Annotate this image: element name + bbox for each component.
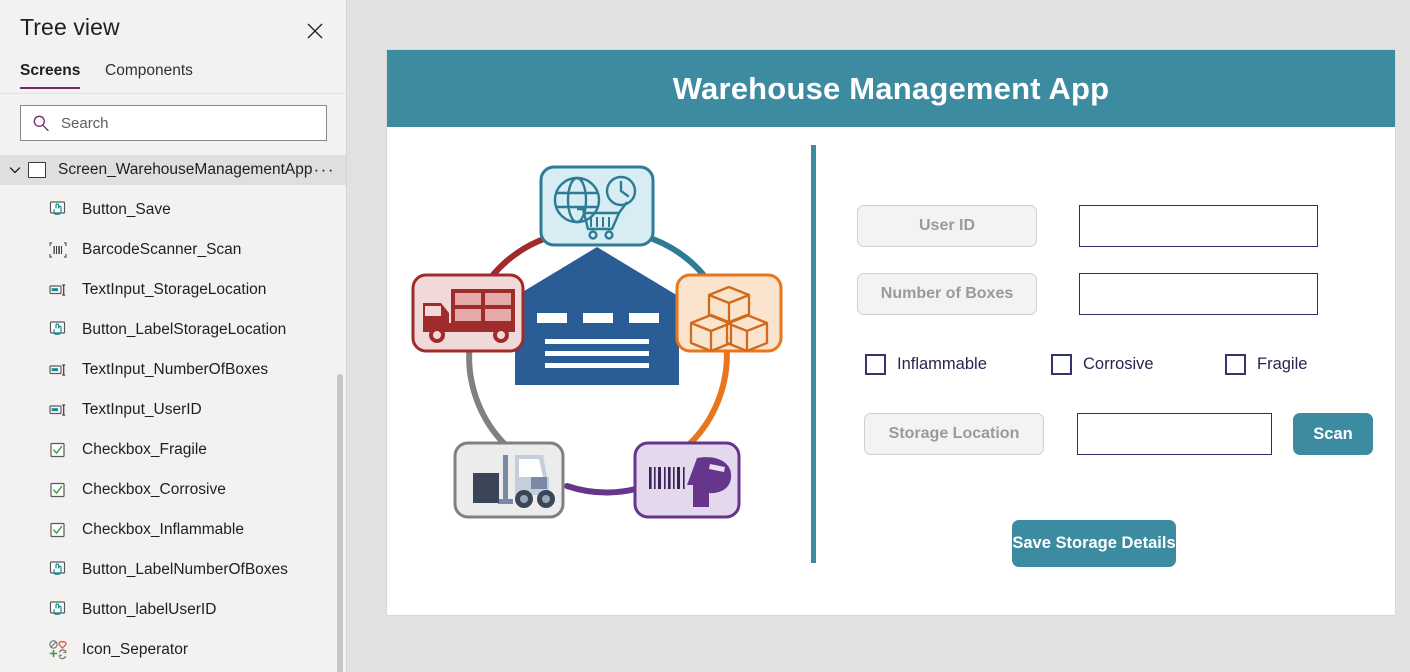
barcode-scanner-icon [48,239,70,261]
tree-item-label: Button_LabelNumberOfBoxes [82,561,288,579]
app-title: Warehouse Management App [673,71,1110,107]
tree-item-textinput-numberofboxes[interactable]: TextInput_NumberOfBoxes [0,350,347,390]
button-label-number-of-boxes[interactable]: Number of Boxes [857,273,1037,315]
tree-view-panel: Tree view Screens Components Search Scre… [0,0,347,672]
tree-item-textinput-userid[interactable]: TextInput_UserID [0,390,347,430]
tree-item-label: Button_LabelStorageLocation [82,321,286,339]
tree-item-label: Checkbox_Inflammable [82,521,244,539]
tree-item-label: Icon_Seperator [82,641,188,659]
search-placeholder: Search [61,115,109,132]
button-save[interactable]: Save Storage Details [1012,520,1176,567]
delivery-truck-icon [413,275,523,351]
tree-item-label: Checkbox_Fragile [82,441,207,459]
checkbox-icon [48,519,70,541]
tree-root-label: Screen_WarehouseManagementApp [58,161,312,179]
warehouse-icon [501,247,693,385]
button-icon [48,199,70,221]
checkbox-icon [48,439,70,461]
tree-item-label: Button_Save [82,201,171,219]
tree-view-tabs: Screens Components [0,62,347,94]
tree-item-button-labeluserid[interactable]: Button_labelUserID [0,590,347,630]
tree-item-checkbox-inflammable[interactable]: Checkbox_Inflammable [0,510,347,550]
tree-item-label: TextInput_UserID [82,401,202,419]
checkbox-icon [48,479,70,501]
tree-item-label: BarcodeScanner_Scan [82,241,241,259]
text-input-storage-location[interactable] [1077,413,1272,455]
tree-item-label: TextInput_StorageLocation [82,281,266,299]
tab-components[interactable]: Components [105,62,193,87]
button-icon [48,599,70,621]
checkbox-label: Fragile [1257,355,1307,374]
tree-item-label: Checkbox_Corrosive [82,481,226,499]
tree-item-textinput-storagelocation[interactable]: TextInput_StorageLocation [0,270,347,310]
tab-screens[interactable]: Screens [20,62,80,89]
checkbox-box-icon [865,354,886,375]
storage-form: User ID Number of Boxes Inflammable Corr… [857,198,1387,618]
button-icon [48,319,70,341]
tree-item-label: TextInput_NumberOfBoxes [82,361,268,379]
checkbox-box-icon [1051,354,1072,375]
warehouse-cycle-graphic [397,155,797,555]
tree-item-barcodescanner-scan[interactable]: BarcodeScanner_Scan [0,230,347,270]
barcode-scanner-scan-button[interactable]: Scan [1293,413,1373,455]
text-input-icon [48,359,70,381]
app-header-bar: Warehouse Management App [387,50,1395,127]
page-title: Tree view [20,14,120,41]
tree-item-checkbox-corrosive[interactable]: Checkbox_Corrosive [0,470,347,510]
checkbox-box-icon [1225,354,1246,375]
tree-item-icon-seperator[interactable]: Icon_Seperator [0,630,347,670]
tree-item-button-labelstoragelocation[interactable]: Button_LabelStorageLocation [0,310,347,350]
barcode-scanner-icon [635,443,739,517]
canvas-area: Warehouse Management App [347,0,1410,672]
checkbox-inflammable[interactable]: Inflammable [865,354,987,375]
checkbox-label: Inflammable [897,355,987,374]
button-label-user-id[interactable]: User ID [857,205,1037,247]
text-input-number-of-boxes[interactable] [1079,273,1318,315]
button-icon [48,559,70,581]
app-canvas: Warehouse Management App [387,50,1395,615]
forklift-icon [455,443,563,517]
tree-root-row[interactable]: Screen_WarehouseManagementApp ··· [0,155,347,185]
text-input-user-id[interactable] [1079,205,1318,247]
screen-icon [28,162,46,178]
overflow-menu-icon[interactable]: ··· [314,163,335,177]
tree-scrollbar-track[interactable] [334,186,346,672]
tree-item-checkbox-fragile[interactable]: Checkbox_Fragile [0,430,347,470]
tree-scrollbar-thumb[interactable] [337,374,343,672]
close-icon[interactable] [302,18,328,44]
tree-item-button-labelnumberofboxes[interactable]: Button_LabelNumberOfBoxes [0,550,347,590]
search-input[interactable]: Search [20,105,327,141]
text-input-icon [48,279,70,301]
checkbox-label: Corrosive [1083,355,1154,374]
tree-item-button-save[interactable]: Button_Save [0,190,347,230]
icon-separator-icon [48,639,70,661]
text-input-icon [48,399,70,421]
icon-separator [811,145,816,563]
checkbox-corrosive[interactable]: Corrosive [1051,354,1154,375]
tree-item-list: Button_SaveBarcodeScanner_ScanTextInput_… [0,190,347,672]
boxes-icon [677,275,781,351]
tree-item-label: Button_labelUserID [82,601,216,619]
chevron-down-icon[interactable] [6,164,24,176]
checkbox-fragile[interactable]: Fragile [1225,354,1307,375]
button-label-storage-location[interactable]: Storage Location [864,413,1044,455]
search-icon [32,114,50,132]
global-commerce-icon [541,167,653,245]
tree-view-header: Tree view [0,0,346,56]
